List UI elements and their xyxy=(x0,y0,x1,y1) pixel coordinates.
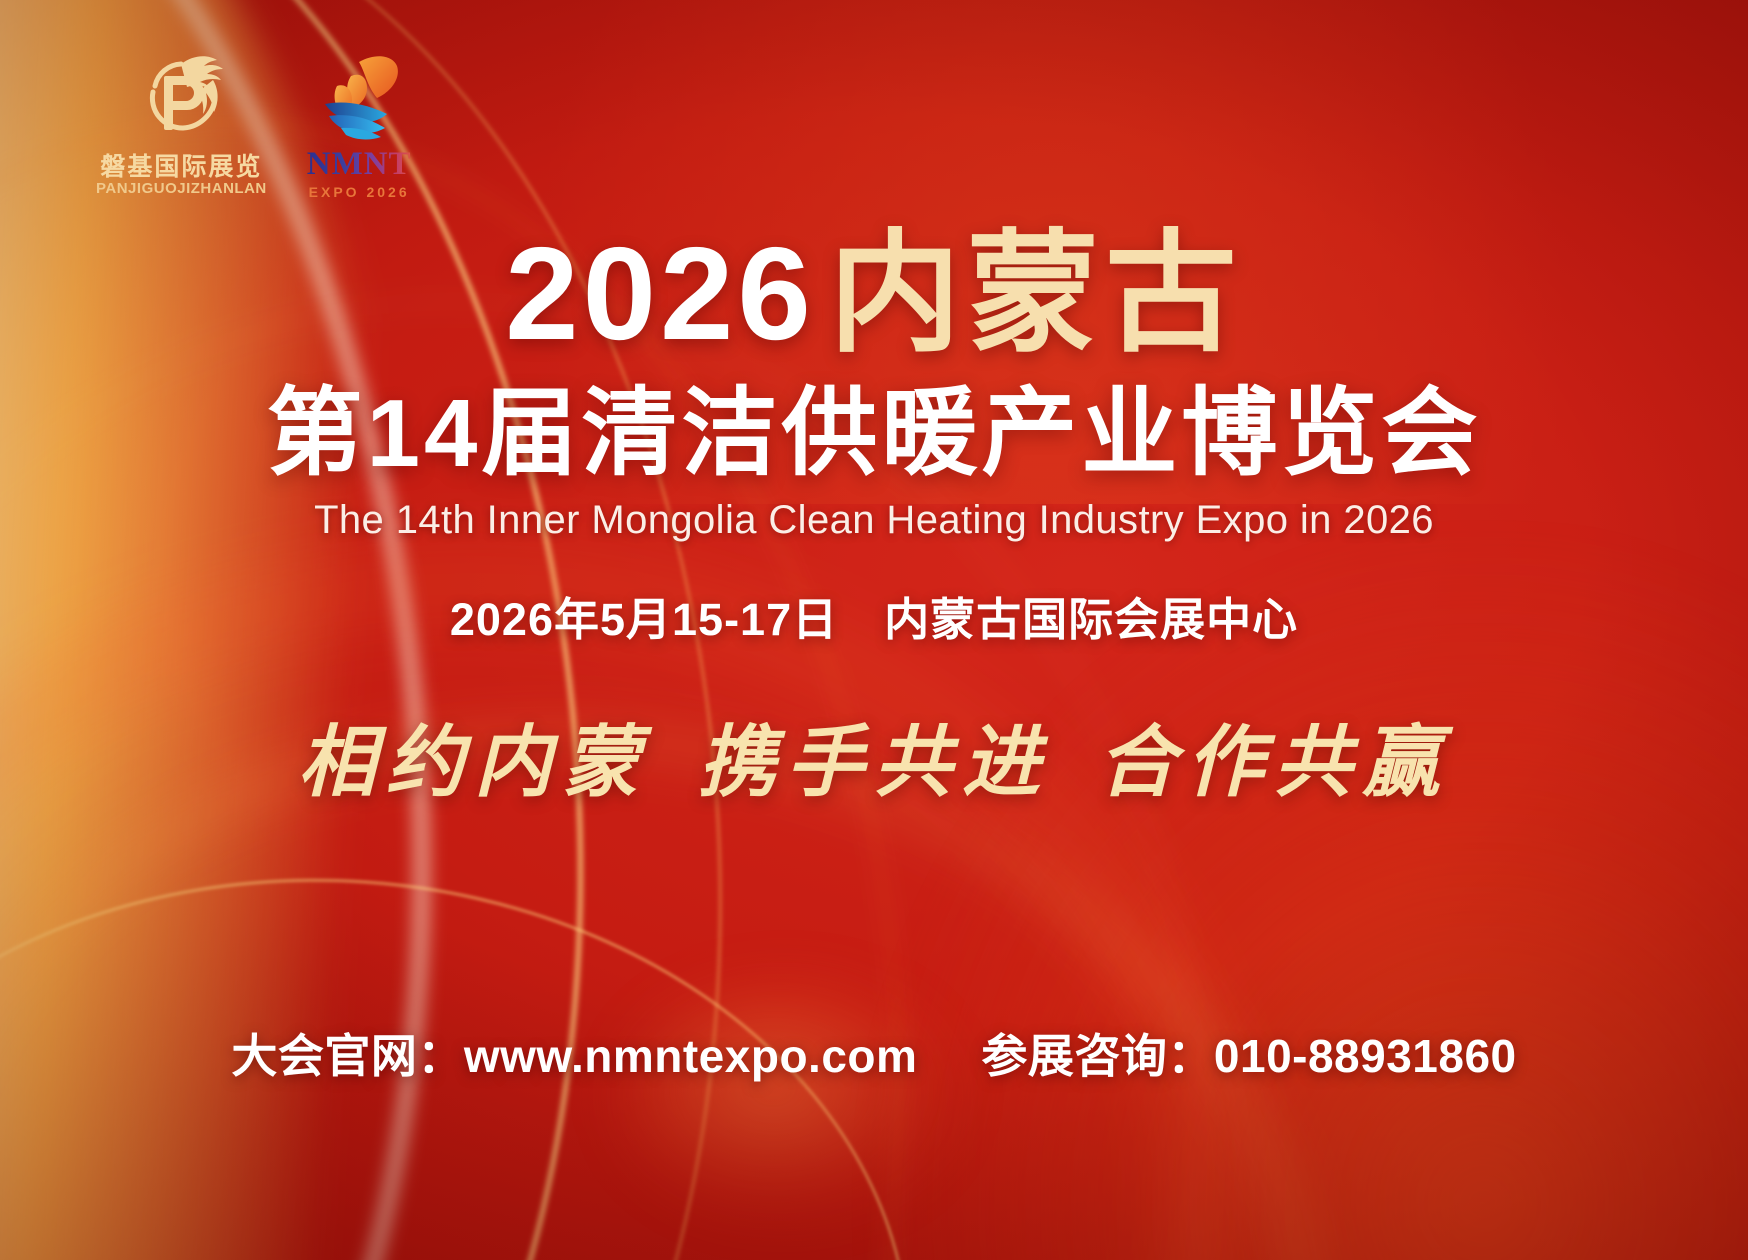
headline-title-cn: 第14届清洁供暖产业博览会 xyxy=(0,384,1748,484)
slogan-part-2: 携手共进 xyxy=(698,719,1050,806)
event-dates: 2026年5月15-17日 xyxy=(450,594,838,645)
event-meta: 2026年5月15-17日内蒙古国际会展中心 xyxy=(0,583,1748,648)
phone-label: 参展咨询： xyxy=(981,1020,1214,1086)
panji-logo-cn: 磐基国际展览 xyxy=(100,154,262,180)
nmnt-wordmark: NMNT xyxy=(307,148,412,181)
slogan-part-3: 合作共赢 xyxy=(1098,719,1450,806)
event-venue: 内蒙古国际会展中心 xyxy=(884,594,1298,645)
slogan-part-1: 相约内蒙 xyxy=(298,719,650,806)
panji-logo: 磐基国际展览 PANJIGUOJIZHANLAN xyxy=(96,46,267,197)
headline-region: 内蒙古 xyxy=(829,220,1243,367)
slogan: 相约内蒙携手共进合作共赢 xyxy=(0,700,1748,812)
logo-bar: 磐基国际展览 PANJIGUOJIZHANLAN xyxy=(96,46,412,200)
website-value[interactable]: www.nmntexpo.com xyxy=(464,1029,918,1083)
panji-logo-en: PANJIGUOJIZHANLAN xyxy=(96,180,267,197)
website-label: 大会官网： xyxy=(231,1020,464,1086)
sun-wave-circle-icon xyxy=(307,46,411,146)
headline-year: 2026 xyxy=(505,220,815,367)
contact-bar: 大会官网：www.nmntexpo.com参展咨询：010-88931860 xyxy=(0,1020,1748,1086)
phone-value[interactable]: 010-88931860 xyxy=(1214,1029,1517,1083)
nmnt-tagline: EXPO 2026 xyxy=(309,184,410,200)
headline-main: 2026内蒙古 xyxy=(0,228,1748,360)
nmnt-logo: NMNT EXPO 2026 xyxy=(307,46,412,200)
expo-poster: 磐基国际展览 PANJIGUOJIZHANLAN xyxy=(0,0,1748,1260)
poster-content: 2026内蒙古 第14届清洁供暖产业博览会 The 14th Inner Mon… xyxy=(0,228,1748,812)
headline-title-en: The 14th Inner Mongolia Clean Heating In… xyxy=(0,498,1748,543)
dragon-p-monogram-icon xyxy=(125,46,237,150)
